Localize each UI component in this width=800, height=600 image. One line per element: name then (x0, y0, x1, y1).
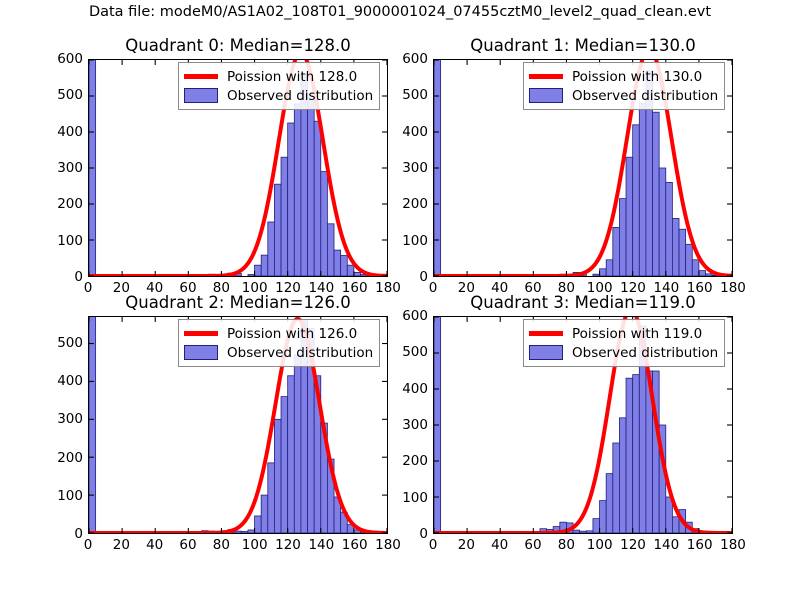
panel-title: Quadrant 0: Median=128.0 (88, 36, 388, 55)
x-tick-label: 120 (275, 537, 301, 553)
x-tick-label: 0 (84, 537, 93, 553)
panel-title: Quadrant 2: Median=126.0 (88, 293, 388, 312)
legend-item-poisson: Poission with 119.0 (529, 324, 718, 343)
legend-item-observed: Observed distribution (184, 86, 373, 105)
histogram-bar (679, 229, 686, 276)
histogram-bar (580, 531, 587, 533)
histogram-bar (659, 168, 666, 276)
panel-quadrant-3: Quadrant 3: Median=119.00100200300400500… (433, 316, 733, 534)
figure-title: Data file: modeM0/AS1A02_108T01_90000010… (0, 4, 800, 20)
x-tick-label: 160 (687, 537, 713, 553)
histogram-bar (613, 227, 620, 276)
legend[interactable]: Poission with 119.0Observed distribution (523, 319, 725, 367)
line-swatch-icon (529, 327, 563, 341)
y-tick-label: 300 (57, 411, 83, 427)
y-tick-label: 400 (402, 381, 428, 397)
y-tick-label: 200 (57, 450, 83, 466)
histogram-bar (593, 274, 600, 276)
line-swatch-icon (184, 327, 218, 341)
x-tick-label: 80 (558, 537, 575, 553)
patch-swatch-icon (529, 345, 563, 360)
x-tick-label: 20 (113, 537, 130, 553)
histogram-bar (255, 516, 262, 533)
legend[interactable]: Poission with 130.0Observed distribution (523, 62, 725, 110)
histogram-bar (321, 172, 328, 276)
histogram-bar (354, 272, 361, 276)
x-tick-label: 100 (587, 537, 613, 553)
histogram-bar (314, 121, 321, 276)
line-swatch-icon (529, 70, 563, 84)
legend-item-poisson: Poission with 130.0 (529, 67, 718, 86)
histogram-bar (261, 255, 268, 276)
histogram-bar (294, 355, 301, 533)
y-tick-label: 200 (57, 196, 83, 212)
histogram-bar (294, 104, 301, 276)
panel-quadrant-1: Quadrant 1: Median=130.00100200300400500… (433, 59, 733, 277)
y-tick-label: 100 (402, 490, 428, 506)
legend-label-poisson: Poission with 126.0 (227, 326, 357, 342)
histogram-bar (686, 244, 693, 276)
histogram-bar (639, 103, 646, 276)
legend[interactable]: Poission with 126.0Observed distribution (178, 319, 380, 367)
y-tick-label: 200 (402, 196, 428, 212)
histogram-bar (281, 397, 288, 533)
legend-item-poisson: Poission with 126.0 (184, 324, 373, 343)
panel-title: Quadrant 3: Median=119.0 (433, 293, 733, 312)
y-tick-label: 100 (57, 488, 83, 504)
x-tick-label: 40 (146, 537, 163, 553)
histogram-bar (347, 265, 354, 276)
x-tick-label: 100 (242, 537, 268, 553)
patch-swatch-icon (529, 88, 563, 103)
y-tick-label: 400 (57, 124, 83, 140)
x-tick-label: 120 (620, 537, 646, 553)
y-tick-label: 300 (402, 160, 428, 176)
x-tick-label: 20 (458, 537, 475, 553)
histogram-bar (593, 519, 600, 533)
histogram-bar (268, 463, 275, 533)
histogram-bar (288, 376, 295, 533)
histogram-bar (255, 265, 262, 276)
y-tick-label: 500 (402, 344, 428, 360)
figure-canvas: Data file: modeM0/AS1A02_108T01_90000010… (0, 0, 800, 600)
panel-title: Quadrant 1: Median=130.0 (433, 36, 733, 55)
histogram-bar (235, 531, 242, 533)
patch-swatch-icon (184, 88, 218, 103)
x-tick-label: 60 (524, 537, 541, 553)
x-tick-label: 40 (491, 537, 508, 553)
x-tick-label: 180 (375, 537, 401, 553)
y-tick-label: 300 (402, 417, 428, 433)
histogram-bar (606, 260, 613, 276)
histogram-bar (248, 275, 255, 276)
x-tick-label: 160 (342, 537, 368, 553)
histogram-bar (653, 112, 660, 276)
legend-label-observed: Observed distribution (227, 88, 373, 104)
y-tick-label: 600 (402, 51, 428, 67)
legend-label-observed: Observed distribution (572, 88, 718, 104)
histogram-bar (600, 501, 607, 533)
y-tick-label: 400 (402, 124, 428, 140)
histogram-bar (633, 375, 640, 533)
histogram-bar (327, 224, 334, 276)
x-tick-label: 80 (213, 537, 230, 553)
histogram-bar (288, 123, 295, 276)
legend[interactable]: Poission with 128.0Observed distribution (178, 62, 380, 110)
y-tick-label: 0 (74, 526, 83, 542)
histogram-bar (241, 531, 248, 533)
legend-label-poisson: Poission with 128.0 (227, 69, 357, 85)
histogram-bar (613, 443, 620, 533)
panel-quadrant-2: Quadrant 2: Median=126.00100200300400500… (88, 316, 388, 534)
panel-quadrant-0: Quadrant 0: Median=128.00100200300400500… (88, 59, 388, 277)
patch-swatch-icon (184, 345, 218, 360)
histogram-bar (619, 199, 626, 276)
histogram-bar (619, 418, 626, 533)
histogram-bar (334, 250, 341, 276)
histogram-bar (706, 274, 713, 276)
histogram-bar (341, 255, 348, 276)
y-tick-label: 400 (57, 373, 83, 389)
line-swatch-icon (184, 70, 218, 84)
y-tick-label: 0 (419, 269, 428, 285)
legend-label-observed: Observed distribution (572, 345, 718, 361)
x-tick-label: 0 (429, 537, 438, 553)
histogram-bar (633, 125, 640, 276)
histogram-bar (586, 531, 593, 533)
histogram-bar (672, 517, 679, 533)
x-tick-label: 140 (653, 537, 679, 553)
x-tick-label: 60 (179, 537, 196, 553)
y-tick-label: 0 (74, 269, 83, 285)
y-tick-label: 500 (402, 87, 428, 103)
histogram-bar (89, 317, 96, 533)
histogram-bar (626, 157, 633, 276)
histogram-bar (261, 495, 268, 533)
histogram-bar (606, 474, 613, 533)
y-tick-label: 600 (402, 308, 428, 324)
legend-label-poisson: Poission with 130.0 (572, 69, 702, 85)
x-tick-label: 180 (720, 537, 746, 553)
histogram-bar (248, 530, 255, 533)
legend-item-observed: Observed distribution (184, 343, 373, 362)
legend-item-observed: Observed distribution (529, 343, 718, 362)
histogram-bar (281, 157, 288, 276)
histogram-bar (274, 419, 281, 533)
y-tick-label: 500 (57, 87, 83, 103)
histogram-bar (274, 184, 281, 276)
legend-label-poisson: Poission with 119.0 (572, 326, 702, 342)
histogram-bar (699, 271, 706, 276)
histogram-bar (268, 222, 275, 276)
y-tick-label: 500 (57, 335, 83, 351)
y-tick-label: 100 (402, 233, 428, 249)
histogram-bar (666, 182, 673, 276)
histogram-bar (308, 94, 315, 276)
histogram-bar (692, 260, 699, 276)
legend-item-observed: Observed distribution (529, 86, 718, 105)
y-tick-label: 200 (402, 453, 428, 469)
histogram-bar (600, 269, 607, 276)
y-tick-label: 100 (57, 233, 83, 249)
y-tick-label: 600 (57, 51, 83, 67)
y-tick-label: 300 (57, 160, 83, 176)
y-tick-label: 0 (419, 526, 428, 542)
histogram-bar (626, 378, 633, 533)
x-tick-label: 140 (308, 537, 334, 553)
histogram-bar (573, 530, 580, 533)
legend-label-observed: Observed distribution (227, 345, 373, 361)
legend-item-poisson: Poission with 128.0 (184, 67, 373, 86)
histogram-bar (672, 218, 679, 276)
